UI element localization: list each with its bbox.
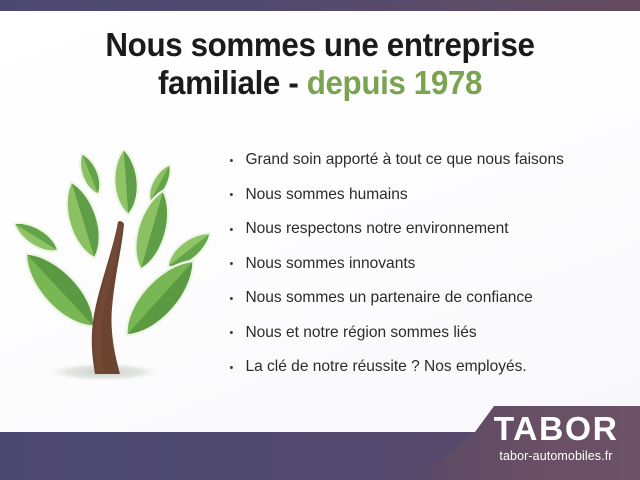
leaf bbox=[112, 150, 140, 216]
brand-name: TABOR bbox=[470, 412, 640, 446]
slide-canvas: Nous sommes une entreprise familiale - d… bbox=[0, 0, 640, 480]
list-item: Nous et notre région sommes liés bbox=[228, 322, 616, 344]
page-title-line1: Nous sommes une entreprise bbox=[105, 26, 534, 63]
brand-website: tabor-automobiles.fr bbox=[472, 448, 640, 464]
list-item: Nous respectons notre environnement bbox=[228, 218, 616, 240]
leaf bbox=[114, 250, 206, 347]
page-title-accent: depuis 1978 bbox=[307, 64, 482, 101]
leaf bbox=[9, 216, 62, 258]
list-item: La clé de notre réussite ? Nos employés. bbox=[228, 356, 616, 378]
value-list: Grand soin apporté à tout ce que nous fa… bbox=[228, 149, 628, 391]
list-item: Grand soin apporté à tout ce que nous fa… bbox=[228, 149, 616, 171]
list-item: Nous sommes innovants bbox=[228, 253, 616, 275]
list-item: Nous sommes un partenaire de confiance bbox=[228, 287, 616, 309]
brand-logo[interactable]: TABOR tabor-automobiles.fr bbox=[472, 412, 640, 464]
list-item: Nous sommes humains bbox=[228, 184, 616, 206]
tree-illustration bbox=[8, 150, 220, 390]
page-title-line2-black: familiale - bbox=[158, 64, 298, 101]
page-title: Nous sommes une entreprise familiale - d… bbox=[16, 26, 624, 101]
top-accent-bar bbox=[0, 0, 640, 11]
page-title-line2: familiale - depuis 1978 bbox=[16, 64, 624, 102]
